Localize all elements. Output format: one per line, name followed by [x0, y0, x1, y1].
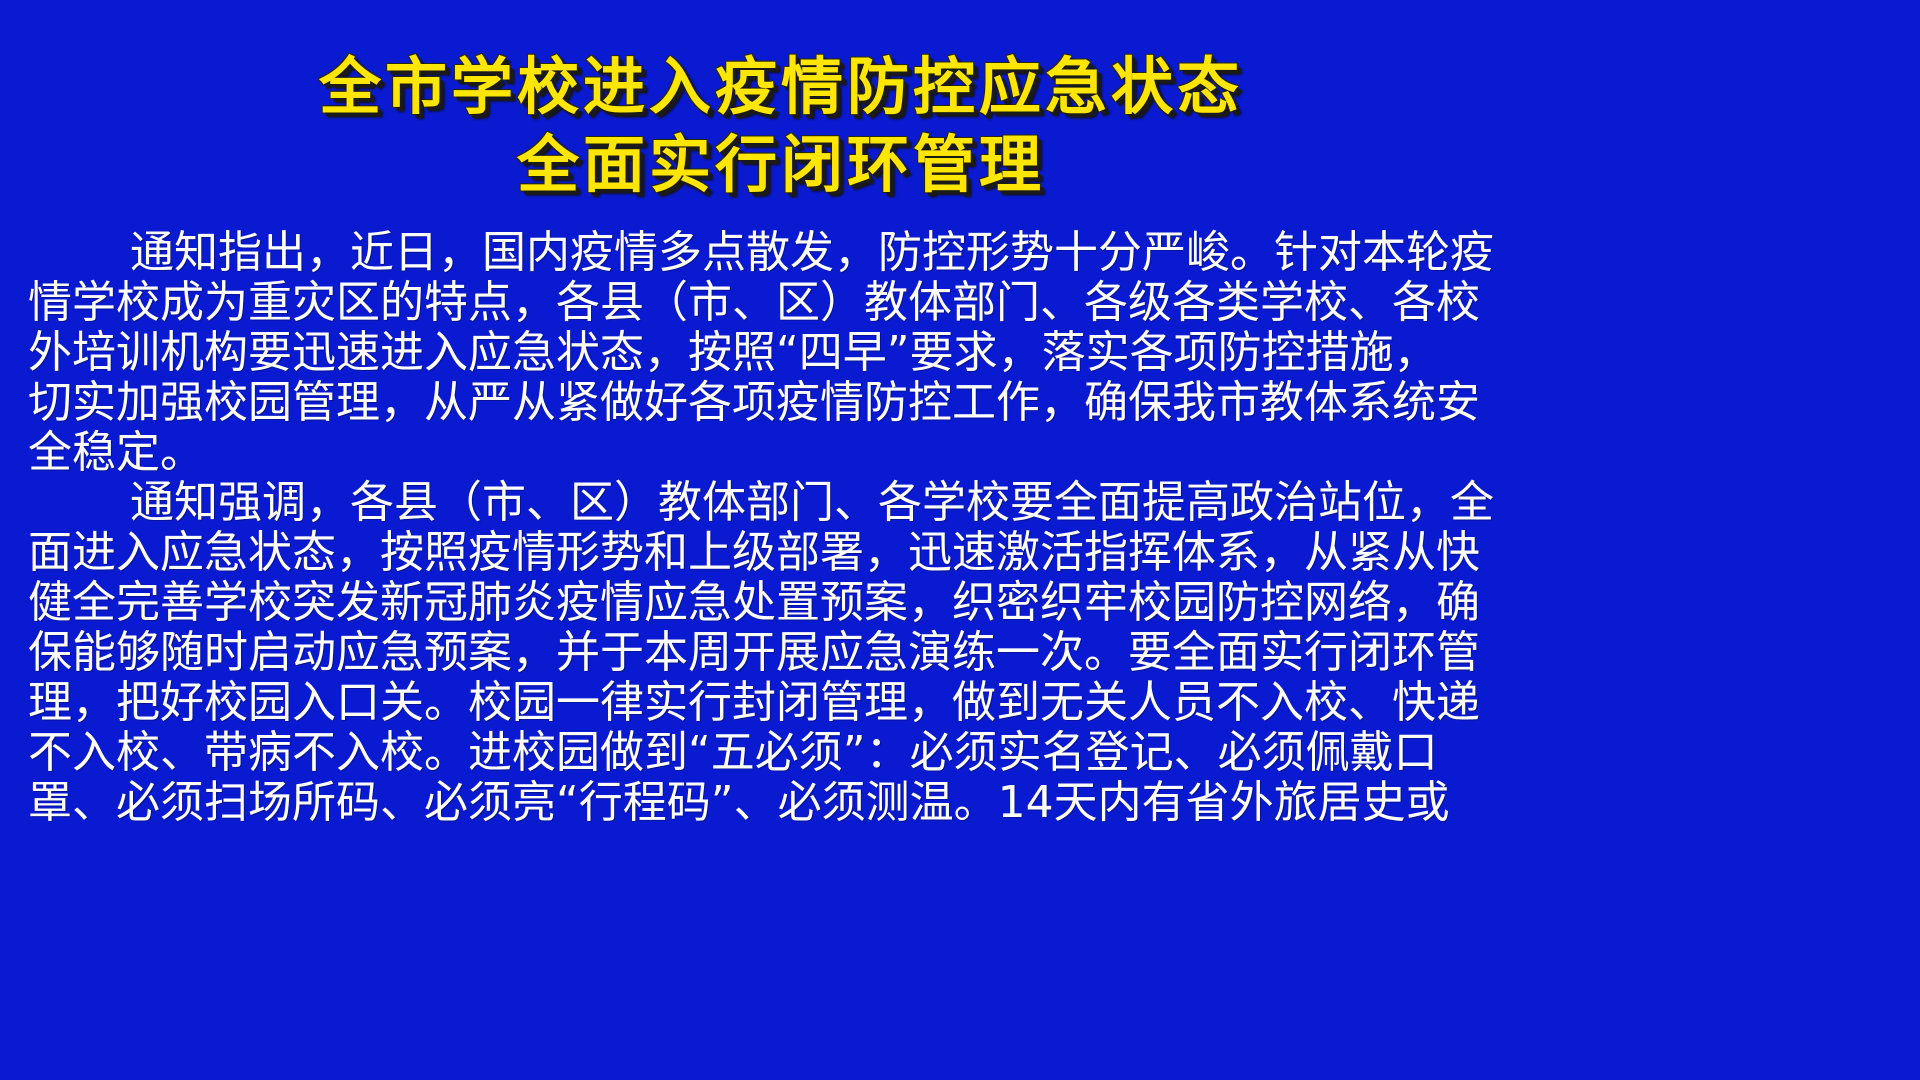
paragraph-2-line-3: 健全完善学校突发新冠肺炎疫情应急处置预案，织密织牢校园防控网络，确 [0, 578, 1562, 628]
paragraph-1-line-1: 通知指出，近日，国内疫情多点散发，防控形势十分严峻。针对本轮疫 [0, 228, 1562, 278]
paragraph-2-line-6: 不入校、带病不入校。进校园做到“五必须”：必须实名登记、必须佩戴口 [0, 728, 1562, 778]
slide-title: 全市学校进入疫情防控应急状态 全面实行闭环管理 [0, 48, 1562, 204]
paragraph-2-line-7: 罩、必须扫场所码、必须亮“行程码”、必须测温。14天内有省外旅居史或 [0, 778, 1562, 828]
paragraph-1-line-4: 切实加强校园管理，从严从紧做好各项疫情防控工作，确保我市教体系统安 [0, 378, 1562, 428]
paragraph-2-line-4: 保能够随时启动应急预案，并于本周开展应急演练一次。要全面实行闭环管 [0, 628, 1562, 678]
paragraph-2-line-5: 理，把好校园入口关。校园一律实行封闭管理，做到无关人员不入校、快递 [0, 678, 1562, 728]
news-slide: 全市学校进入疫情防控应急状态 全面实行闭环管理 通知指出，近日，国内疫情多点散发… [0, 0, 1920, 1080]
paragraph-1-line-2: 情学校成为重灾区的特点，各县（市、区）教体部门、各级各类学校、各校 [0, 278, 1562, 328]
title-line-2: 全面实行闭环管理 [0, 126, 1562, 204]
title-line-1: 全市学校进入疫情防控应急状态 [0, 48, 1562, 126]
paragraph-2: 通知强调，各县（市、区）教体部门、各学校要全面提高政治站位，全 面进入应急状态，… [0, 478, 1562, 828]
paragraph-1-line-3: 外培训机构要迅速进入应急状态，按照“四早”要求，落实各项防控措施， [0, 328, 1562, 378]
content-column: 全市学校进入疫情防控应急状态 全面实行闭环管理 通知指出，近日，国内疫情多点散发… [0, 0, 1562, 1080]
paragraph-2-line-2: 面进入应急状态，按照疫情形势和上级部署，迅速激活指挥体系，从紧从快 [0, 528, 1562, 578]
paragraph-1-line-5: 全稳定。 [0, 428, 1562, 478]
body-text: 通知指出，近日，国内疫情多点散发，防控形势十分严峻。针对本轮疫 情学校成为重灾区… [0, 228, 1562, 828]
paragraph-2-line-1: 通知强调，各县（市、区）教体部门、各学校要全面提高政治站位，全 [0, 478, 1562, 528]
paragraph-1: 通知指出，近日，国内疫情多点散发，防控形势十分严峻。针对本轮疫 情学校成为重灾区… [0, 228, 1562, 478]
